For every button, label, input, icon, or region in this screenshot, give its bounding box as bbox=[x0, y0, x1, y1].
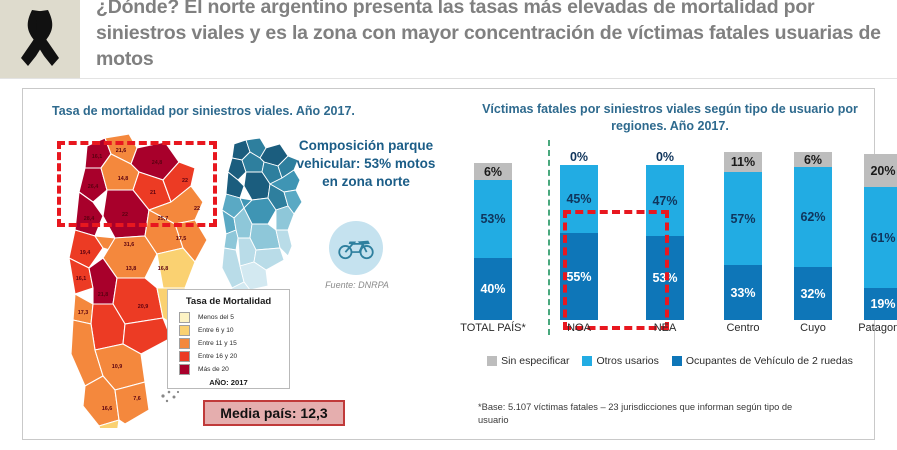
svg-text:16,1: 16,1 bbox=[76, 276, 87, 282]
bar-column[interactable]: 6% 53% 40% bbox=[470, 148, 516, 320]
map-legend-item: Entre 16 y 20 bbox=[179, 351, 289, 362]
legend-label: Entre 11 y 15 bbox=[198, 340, 237, 347]
bar-column[interactable]: 6% 62% 32% bbox=[790, 148, 836, 320]
bar-segment-otros-usuarios[interactable]: 57% bbox=[724, 172, 762, 265]
bar-column[interactable]: 11% 57% 33% bbox=[720, 148, 766, 320]
chart-legend-item-ocupantes-2-ruedas[interactable]: Ocupantes de Vehículo de 2 ruedas bbox=[672, 355, 853, 367]
legend-swatch bbox=[179, 351, 190, 362]
axis-label-noa: NOA bbox=[536, 322, 622, 334]
mourning-ribbon-box bbox=[0, 0, 80, 78]
legend-label: Entre 6 y 10 bbox=[198, 327, 234, 334]
chart-category-axis: TOTAL PAÍS* NOA NEA Centro Cuyo Patagoni… bbox=[470, 322, 870, 340]
svg-text:20,9: 20,9 bbox=[138, 304, 149, 310]
legend-label: Más de 20 bbox=[198, 366, 229, 373]
legend-label: Menos del 5 bbox=[198, 314, 234, 321]
chart-title: Víctimas fatales por siniestros viales s… bbox=[470, 101, 870, 135]
map-legend-year: AÑO: 2017 bbox=[168, 378, 289, 387]
map-legend: Tasa de Mortalidad Menos del 5 Entre 6 y… bbox=[167, 289, 290, 389]
chart-highlight-frame-noa-nea bbox=[563, 210, 669, 330]
svg-text:10,9: 10,9 bbox=[112, 364, 123, 370]
bar-column[interactable]: 20% 61% 19% bbox=[860, 148, 897, 320]
map-legend-item: Entre 6 y 10 bbox=[179, 325, 289, 336]
bar-segment-sin-especificar[interactable]: 0% bbox=[560, 148, 598, 165]
svg-text:19,4: 19,4 bbox=[80, 250, 91, 256]
map-legend-title: Tasa de Mortalidad bbox=[168, 296, 289, 307]
bar-segment-sin-especificar[interactable]: 11% bbox=[724, 152, 762, 172]
axis-label-nea: NEA bbox=[622, 322, 708, 334]
chart-legend-item-otros-usuarios[interactable]: Otros usarios bbox=[582, 355, 658, 367]
bar-segment-ocupantes-2-ruedas[interactable]: 40% bbox=[474, 258, 512, 320]
bar-segment-sin-especificar[interactable]: 20% bbox=[864, 154, 897, 187]
svg-text:16,8: 16,8 bbox=[158, 266, 169, 272]
bar-segment-ocupantes-2-ruedas[interactable]: 32% bbox=[794, 267, 832, 320]
axis-label-patagonia: Patagonia bbox=[840, 322, 897, 334]
axis-label-total-pais: TOTAL PAÍS* bbox=[450, 322, 536, 334]
chart-legend-label: Otros usarios bbox=[596, 355, 658, 367]
legend-swatch bbox=[582, 356, 592, 366]
legend-swatch bbox=[179, 338, 190, 349]
bar-segment-sin-especificar[interactable]: 6% bbox=[794, 152, 832, 167]
svg-text:17,5: 17,5 bbox=[176, 236, 187, 242]
legend-label: Entre 16 y 20 bbox=[198, 353, 237, 360]
svg-text:13,8: 13,8 bbox=[126, 266, 137, 272]
header-divider bbox=[0, 78, 897, 79]
chart-legend-label: Sin especificar bbox=[501, 355, 569, 367]
svg-text:21,8: 21,8 bbox=[98, 292, 109, 298]
page-title: ¿Dónde? El norte argentino presenta las … bbox=[96, 0, 886, 72]
bar-segment-otros-usuarios[interactable]: 62% bbox=[794, 167, 832, 267]
stacked-bar-chart: 6% 53% 40% 0% 45% 55% 0% 47% 53% 11% 57%… bbox=[470, 148, 870, 320]
source-note: Fuente: DNRPA bbox=[303, 280, 411, 290]
legend-swatch bbox=[179, 364, 190, 375]
chart-legend-item-sin-especificar[interactable]: Sin especificar bbox=[487, 355, 569, 367]
legend-swatch bbox=[179, 325, 190, 336]
legend-swatch bbox=[487, 356, 497, 366]
legend-swatch bbox=[672, 356, 682, 366]
bar-segment-ocupantes-2-ruedas[interactable]: 19% bbox=[864, 288, 897, 320]
map-legend-item: Más de 20 bbox=[179, 364, 289, 375]
bar-segment-sin-especificar[interactable]: 6% bbox=[474, 163, 512, 180]
chart-legend: Sin especificar Otros usarios Ocupantes … bbox=[470, 355, 870, 367]
svg-text:31,6: 31,6 bbox=[124, 242, 135, 248]
bar-segment-otros-usuarios[interactable]: 53% bbox=[474, 180, 512, 258]
legend-swatch bbox=[179, 312, 190, 323]
map-highlight-frame-north bbox=[57, 141, 217, 227]
bar-segment-ocupantes-2-ruedas[interactable]: 33% bbox=[724, 265, 762, 320]
chart-footnote: *Base: 5.107 víctimas fatales – 23 juris… bbox=[478, 401, 818, 427]
left-panel-title: Tasa de mortalidad por siniestros viales… bbox=[52, 104, 432, 118]
svg-text:17,3: 17,3 bbox=[78, 310, 89, 316]
composition-note: Composición parque vehicular: 53% motos … bbox=[296, 137, 436, 191]
argentina-inset-map bbox=[218, 138, 304, 293]
bar-segment-sin-especificar[interactable]: 0% bbox=[646, 148, 684, 165]
chart-legend-label: Ocupantes de Vehículo de 2 ruedas bbox=[686, 355, 853, 367]
map-legend-item: Entre 11 y 15 bbox=[179, 338, 289, 349]
bar-segment-otros-usuarios[interactable]: 61% bbox=[864, 187, 897, 288]
motorcycle-icon bbox=[329, 221, 383, 275]
mourning-ribbon-icon bbox=[18, 8, 62, 70]
media-pais-badge: Media país: 12,3 bbox=[203, 400, 345, 426]
map-legend-item: Menos del 5 bbox=[179, 312, 289, 323]
svg-text:16,6: 16,6 bbox=[102, 406, 113, 412]
svg-text:7,6: 7,6 bbox=[133, 396, 141, 402]
page-header: ¿Dónde? El norte argentino presenta las … bbox=[0, 0, 897, 88]
